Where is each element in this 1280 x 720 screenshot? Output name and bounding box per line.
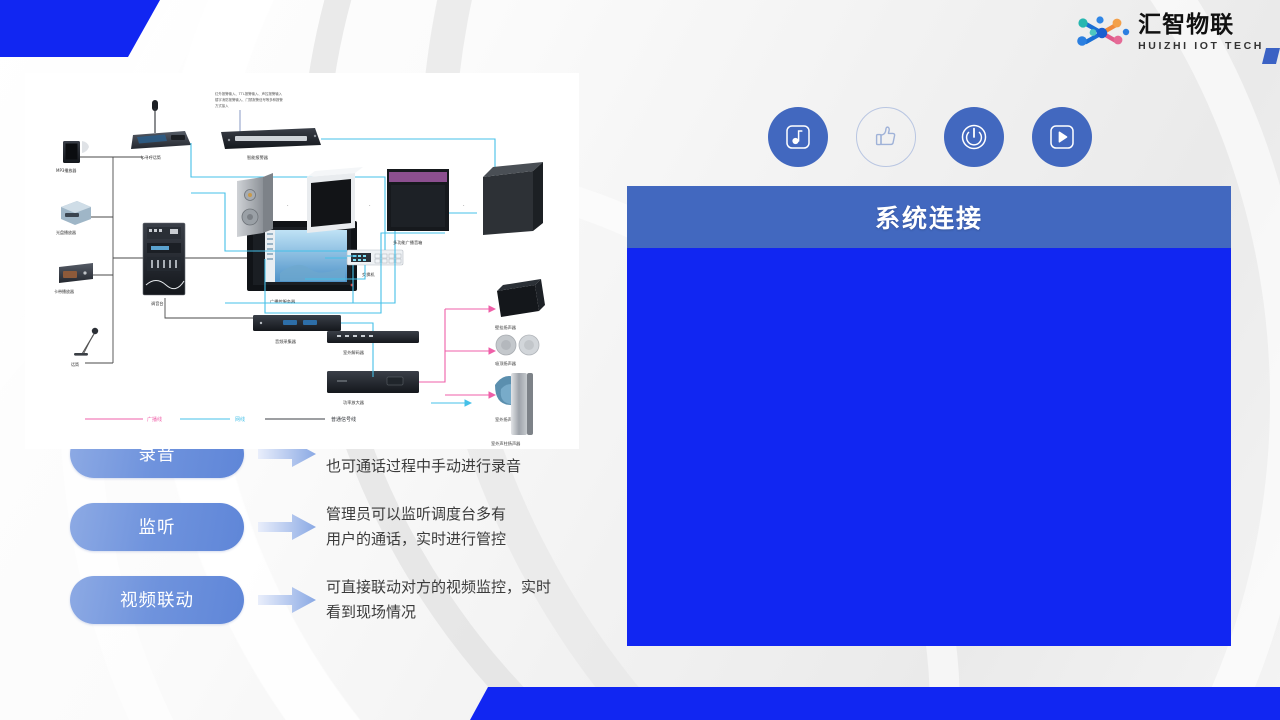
- svg-text:广播线: 广播线: [147, 416, 162, 423]
- feature-row: 监听 管理员可以监听调度台多有 用户的通话，实时进行管控: [70, 490, 630, 563]
- play-icon[interactable]: [1032, 107, 1092, 167]
- svg-text:室外解码器: 室外解码器: [343, 349, 365, 356]
- svg-text:网线: 网线: [235, 416, 245, 423]
- svg-text:调音台: 调音台: [151, 300, 164, 307]
- svg-text:方式接入: 方式接入: [215, 103, 229, 108]
- svg-text:室外声柱扬声器: 室外声柱扬声器: [491, 440, 521, 447]
- svg-text:多功能广播音箱: 多功能广播音箱: [393, 239, 422, 246]
- svg-text:吸顶扬声器: 吸顶扬声器: [495, 360, 517, 367]
- feature-description: 可直接联动对方的视频监控，实时 看到现场情况: [326, 575, 626, 624]
- svg-text:壁挂扬声器: 壁挂扬声器: [495, 324, 517, 331]
- feature-pill[interactable]: 视频联动: [70, 576, 244, 624]
- diagram-node-mixer: 调音台: [143, 223, 185, 307]
- svg-text:Ip寻呼话筒: Ip寻呼话筒: [141, 154, 161, 160]
- feature-row: 视频联动 可直接联动对方的视频监控，实时 看到现场情况: [70, 563, 630, 636]
- feature-description: 管理员可以监听调度台多有 用户的通话，实时进行管控: [326, 502, 626, 551]
- feature-description-line: 可直接联动对方的视频监控，实时: [326, 575, 626, 599]
- svg-text:普通信号线: 普通信号线: [331, 416, 356, 423]
- brand-name-en: HUIZHI IOT TECH: [1138, 41, 1264, 52]
- brand-logo: 汇智物联 HUIZHI IOT TECH: [1076, 14, 1264, 52]
- feature-description-line: 也可通话过程中手动进行录音: [326, 454, 626, 478]
- network-nodes-icon: [1076, 15, 1130, 51]
- svg-text:话筒: 话筒: [71, 361, 79, 367]
- svg-text:红外报警输入、TTL报警输入、声控报警输入: 红外报警输入、TTL报警输入、声控报警输入: [215, 91, 283, 96]
- feature-description-line: 看到现场情况: [326, 600, 626, 624]
- power-icon[interactable]: [944, 107, 1004, 167]
- music-note-icon[interactable]: [768, 107, 828, 167]
- system-diagram: 红外报警输入、TTL报警输入、声控报警输入 楼宇消防报警输入、门禁报警信号等多种…: [25, 73, 579, 449]
- svg-text:MP3播放器: MP3播放器: [56, 167, 76, 173]
- panel-header: 系统连接: [627, 186, 1231, 248]
- svg-text:智能报警器: 智能报警器: [247, 154, 269, 161]
- svg-text:交换机: 交换机: [362, 271, 375, 278]
- svg-text:光盘播放器: 光盘播放器: [56, 229, 76, 235]
- brand-logo-text: 汇智物联 HUIZHI IOT TECH: [1138, 14, 1264, 52]
- brand-name-cn: 汇智物联: [1138, 14, 1264, 37]
- diagram-node-subwoofer: [483, 162, 543, 235]
- panel-title: 系统连接: [875, 199, 983, 235]
- arrow-right-icon: [258, 587, 316, 613]
- feature-icon-row: [768, 107, 1092, 167]
- feature-pill[interactable]: 监听: [70, 503, 244, 551]
- svg-text:音频采集器: 音频采集器: [275, 338, 297, 345]
- system-diagram-container: 红外报警输入、TTL报警输入、声控报警输入 楼宇消防报警输入、门禁报警信号等多种…: [25, 73, 579, 449]
- arrow-right-icon: [258, 514, 316, 540]
- bottom-right-accent-shape: [470, 687, 1280, 720]
- svg-text:功率放大器: 功率放大器: [343, 399, 365, 406]
- svg-text:卡带播放器: 卡带播放器: [54, 288, 74, 294]
- system-connection-panel: 系统连接: [627, 186, 1231, 646]
- feature-description-line: 管理员可以监听调度台多有: [326, 502, 626, 526]
- thumbs-up-icon[interactable]: [856, 107, 916, 167]
- svg-text:广播控服务器: 广播控服务器: [270, 298, 296, 305]
- feature-description-line: 用户的通话，实时进行管控: [326, 527, 626, 551]
- svg-text:楼宇消防报警输入、门禁报警信号等多种报警: 楼宇消防报警输入、门禁报警信号等多种报警: [215, 97, 283, 102]
